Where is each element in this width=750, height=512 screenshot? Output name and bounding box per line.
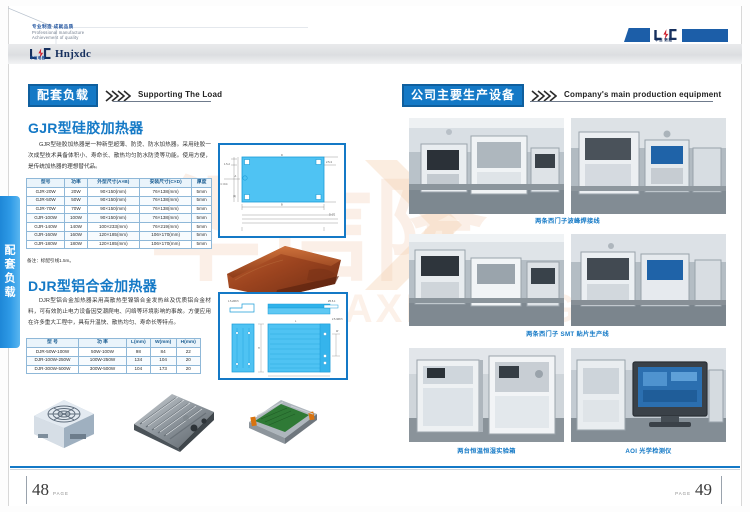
table-row: GJR-180W180W120×185(mm)106×170(mm)5mm	[27, 240, 212, 249]
paragraph-djr: DJR型铝合金加热器采用高散热型镍铬合金发热丝及优质铝合金材料，可有效防止电力设…	[28, 296, 211, 329]
company-logo-cn-right: 华信 数据	[655, 38, 672, 43]
page-number-bar-right	[721, 476, 722, 504]
col-power-djr: 功 率	[79, 339, 127, 348]
page-number-left: 48 PAGE	[32, 480, 69, 500]
heading-gjr-silicone-heater: GJR型硅胶加热器	[28, 118, 144, 138]
header-gray-band	[8, 44, 742, 64]
page-number-right: PAGE 49	[675, 480, 712, 500]
table-row: GJR-140W140W100×233(mm)76×219(mm)5mm	[27, 223, 212, 232]
caption-temperature-humidity-chamber: 两台恒温恒湿实验箱	[409, 446, 564, 455]
col-height: H(mm)	[176, 339, 200, 348]
photo-smt-line-3	[409, 234, 564, 326]
company-logo-mark-icon-right: 华信 数据	[654, 27, 678, 43]
company-logo-cn: 华信电器	[30, 56, 46, 61]
table-djr-specs: 型 号 功 率 L(mm) W(mm) H(mm) DJR-50W-100W50…	[26, 338, 201, 374]
col-thickness: 厚度	[192, 179, 212, 188]
footer-rule-blue	[10, 466, 740, 468]
svg-text:H: H	[258, 347, 260, 350]
photo-smt-line-1	[409, 118, 564, 214]
svg-text:2.5-3Ø3.5: 2.5-3Ø3.5	[332, 318, 343, 321]
photo-fan-heater-unit	[24, 390, 104, 452]
table-row: GJR-100W100W90×150(mm)76×138(mm)5mm	[27, 214, 212, 223]
table-row: GJR-20W20W90×150(mm)76×138(mm)5mm	[27, 187, 212, 196]
section-english-left: Supporting The Load	[138, 90, 222, 101]
table-row: DJR-50W-100W50W-100W988422	[27, 347, 201, 356]
svg-text:2.5-3: 2.5-3	[326, 160, 332, 164]
caption-smt-production-lines: 两条西门子 SMT 贴片生产线	[409, 329, 726, 338]
svg-text:B: B	[281, 203, 283, 207]
svg-text:D: D	[281, 153, 283, 157]
heading-djr-aluminium-heater: DJR型铝合金加热器	[28, 276, 157, 296]
col-model-djr: 型 号	[27, 339, 79, 348]
page-number-bar-left	[26, 476, 27, 504]
svg-text:Ø3.5-4: Ø3.5-4	[328, 300, 336, 303]
slogan-en-line2: Achievement of quality	[32, 35, 84, 40]
col-model: 型号	[27, 179, 65, 188]
page-number-right-value: 49	[695, 480, 712, 500]
col-mount-size: 安装尺寸(C×D)	[139, 179, 191, 188]
table-row: DJR-300W-500W300W-500W10417320	[27, 365, 201, 374]
col-outer-size: 外型尺寸(A×B)	[87, 179, 139, 188]
drawing-panel-djr: 1.5-2Ø3.5 Ø3.5-4 H L W 2.5-3Ø3.5	[218, 292, 348, 380]
table-row: GJR-160W160W120×185(mm)106×170(mm)5mm	[27, 231, 212, 240]
photo-temperature-humidity-chamber	[409, 348, 564, 442]
photo-aluminium-fin-heater	[128, 388, 220, 454]
company-logo-left: 华信电器 Hnjxdc	[30, 46, 91, 61]
footer-rule-gray	[10, 469, 740, 470]
table-row: DJR-100W-250W100W-250W13410420	[27, 356, 201, 365]
svg-text:1.5-2: 1.5-2	[224, 162, 230, 166]
header-blue-bar-decor	[682, 29, 728, 42]
col-length: L(mm)	[127, 339, 151, 348]
chevron-right-icon-right	[531, 90, 557, 102]
photo-smt-line-2	[571, 118, 726, 214]
paragraph-gjr: GJR型硅胶加热器是一种新型超薄、防烫、防水加热器。采用硅胶一次成型技术具备体积…	[28, 140, 211, 173]
caption-wave-soldering-lines: 两条西门子波峰焊接线	[409, 216, 726, 225]
svg-text:C 3×4: C 3×4	[221, 182, 229, 186]
caption-aoi-inspection: AOI 光学检测仪	[571, 446, 726, 455]
catalog-page: 专业制造 成就品质 Professional manufacture Achie…	[0, 0, 750, 512]
table-header-row: 型号 功率 外型尺寸(A×B) 安装尺寸(C×D) 厚度	[27, 179, 212, 188]
svg-text:D-Ø2: D-Ø2	[329, 213, 336, 217]
chevron-right-icon-left	[105, 90, 131, 102]
photo-aoi-inspection-machine	[571, 348, 726, 442]
header-triangle-decor	[624, 28, 650, 42]
section-english-right: Company's main production equipment	[564, 90, 721, 101]
side-tab-supporting-the-load[interactable]: 配套负载	[0, 196, 20, 348]
table-row: GJR-70W70W90×150(mm)76×138(mm)5mm	[27, 205, 212, 214]
table-note-gjr: 备注：标配引线1.5m。	[27, 258, 74, 264]
page-number-left-label: PAGE	[53, 491, 69, 496]
page-number-left-value: 48	[32, 480, 49, 500]
page-number-right-label: PAGE	[675, 491, 691, 496]
company-logo-mark-icon: 华信电器	[30, 46, 52, 61]
side-tab-label: 配套负载	[1, 244, 17, 300]
table-gjr-specs: 型号 功率 外型尺寸(A×B) 安装尺寸(C×D) 厚度 GJR-20W20W9…	[26, 178, 212, 249]
photo-smt-line-4	[571, 234, 726, 326]
section-chip-right: 公司主要生产设备	[402, 84, 524, 107]
photo-pcb-heater-module	[243, 392, 323, 450]
section-header-left: 配套负载 Supporting The Load	[28, 84, 222, 107]
table-row: GJR-50W50W90×150(mm)76×138(mm)5mm	[27, 196, 212, 205]
svg-text:1.5-2Ø3.5: 1.5-2Ø3.5	[228, 300, 239, 303]
section-underline-right	[530, 101, 713, 102]
col-width: W(mm)	[150, 339, 176, 348]
company-slogan: 专业制造 成就品质 Professional manufacture Achie…	[32, 24, 84, 40]
table-header-row: 型 号 功 率 L(mm) W(mm) H(mm)	[27, 339, 201, 348]
section-header-right: 公司主要生产设备 Company's main production equip…	[402, 84, 721, 107]
svg-text:A: A	[235, 174, 237, 178]
svg-text:(1): (1)	[233, 194, 236, 198]
company-logo-wordmark: Hnjxdc	[55, 48, 91, 60]
section-underline-left	[113, 101, 211, 102]
col-power: 功率	[65, 179, 87, 188]
drawing-panel-gjr: 1.5-2 A C 3×4 (1) B 2.5-3 D-Ø2 D	[218, 143, 346, 238]
section-chip-left: 配套负载	[28, 84, 98, 107]
company-logo-right: 华信 数据	[624, 26, 728, 44]
